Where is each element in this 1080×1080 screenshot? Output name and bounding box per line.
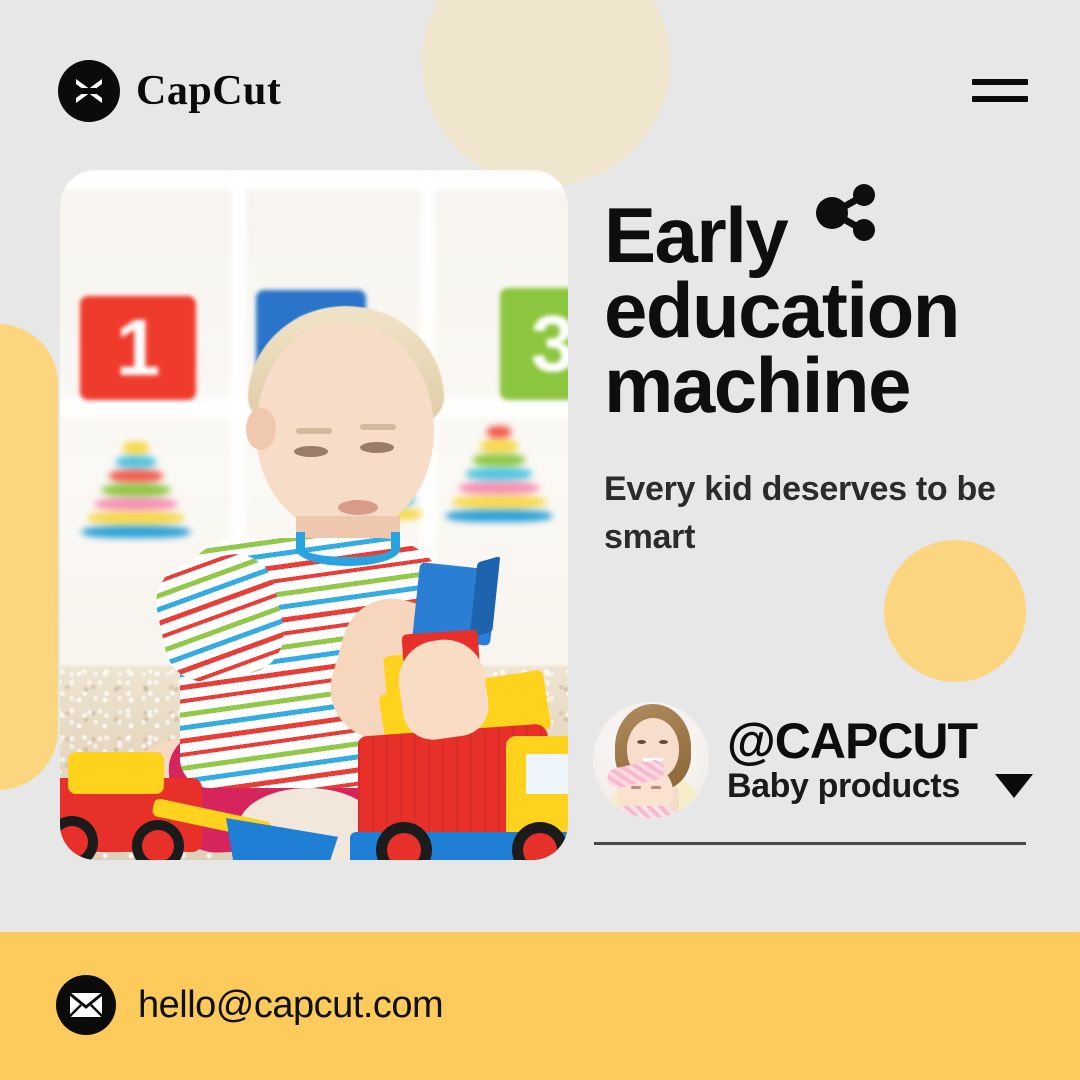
brand-logo-group[interactable]: CapCut [58,60,281,122]
profile-text: @CAPCUT Baby products [727,715,1033,806]
brand-name: CapCut [136,70,281,112]
profile-block[interactable]: @CAPCUT Baby products [593,702,1027,818]
footer-bar: hello@capcut.com Baby early education to… [0,932,1080,1080]
page-title: Early education machine [604,180,1044,423]
email-contact[interactable]: hello@capcut.com [56,975,443,1035]
profile-category: Baby products [727,767,960,806]
menu-bar [972,96,1028,102]
capcut-logo-icon [58,60,120,122]
envelope-icon [56,975,116,1035]
headline-line-3: machine [604,341,910,429]
avatar [593,702,709,818]
photo-scene: 1 2 3 [60,170,568,860]
hero-photo: 1 2 3 [60,170,568,860]
subtitle: Every kid deserves to be smart [604,465,1024,562]
email-address: hello@capcut.com [138,984,443,1027]
profile-divider [594,842,1026,845]
hamburger-menu-icon[interactable] [972,72,1028,108]
chevron-down-icon[interactable] [995,774,1033,798]
profile-category-row[interactable]: Baby products [727,767,1033,806]
decorative-yellow-blob [0,324,58,790]
profile-handle: @CAPCUT [727,715,1033,767]
share-icon[interactable] [813,180,879,255]
header: CapCut [0,0,1080,180]
menu-bar [972,79,1028,85]
poster-canvas: CapCut 1 2 3 [0,0,1080,1080]
